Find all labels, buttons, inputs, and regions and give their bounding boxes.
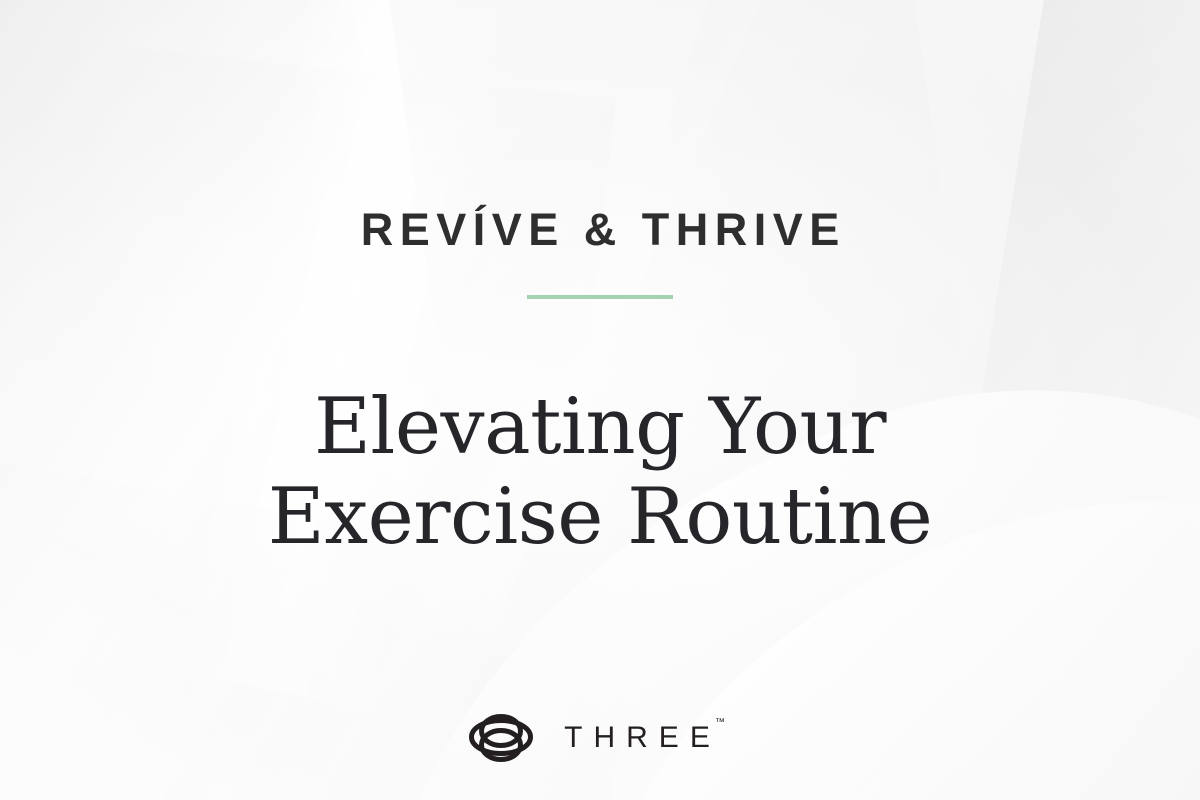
divider-container [0, 295, 1200, 299]
accent-rule [527, 295, 673, 299]
brand-logo-lockup: THREE™ [0, 712, 1200, 764]
slide-content: REVÍVE & THRIVE Elevating Your Exercise … [0, 0, 1200, 800]
page-title: Elevating Your Exercise Routine [0, 382, 1200, 562]
page-title-line-1: Elevating Your [0, 382, 1200, 472]
three-rings-logo-icon [469, 712, 533, 764]
brand-wordmark-text: THREE [564, 721, 721, 754]
eyebrow-kicker: REVÍVE & THRIVE [0, 206, 1200, 253]
page-title-line-2: Exercise Routine [0, 472, 1200, 562]
brand-wordmark: THREE™ [553, 723, 731, 753]
trademark-symbol: ™ [715, 717, 725, 728]
title-slide: REVÍVE & THRIVE Elevating Your Exercise … [0, 0, 1200, 800]
